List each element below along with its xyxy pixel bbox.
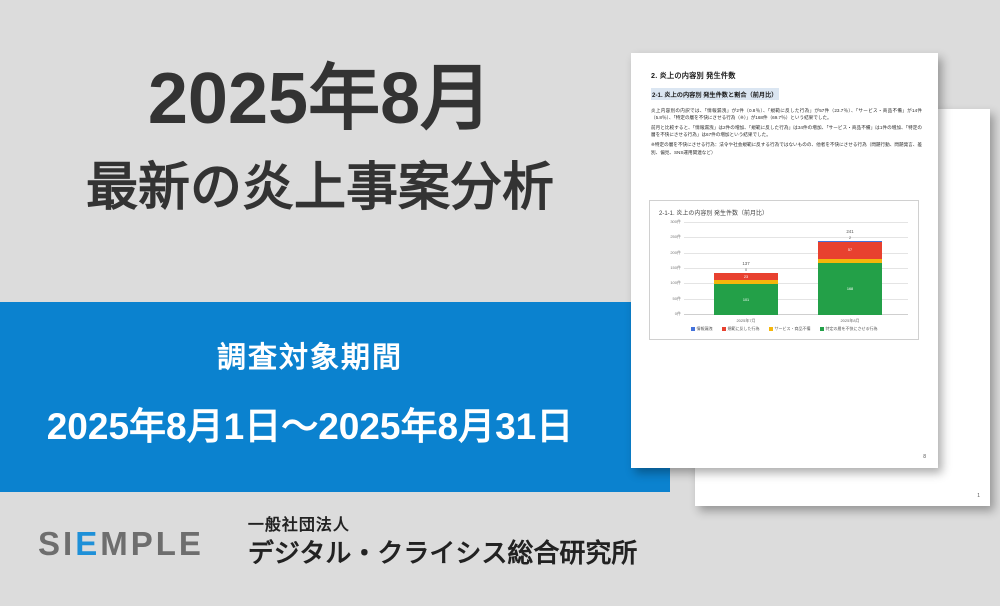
siemple-logo: SIEMPLE: [38, 527, 204, 560]
survey-period-band: 調査対象期間 2025年8月1日〜2025年8月31日: [0, 302, 670, 492]
chart-segment-value: 101: [743, 298, 749, 302]
chart-bar-segment: 101: [714, 284, 778, 315]
chart-y-tick: 100件: [670, 280, 681, 286]
page-title: 2025年8月: [0, 62, 640, 138]
chart-bar: 5716824122025年8月: [818, 241, 882, 315]
organization-block: 一般社団法人 デジタル・クライシス総合研究所: [248, 517, 637, 568]
chart-segment-value: 168: [847, 287, 853, 291]
chart-y-tick: 300件: [670, 219, 681, 225]
chart-legend-label: 情報漏洩: [697, 326, 713, 332]
chart-x-tick: 2025年8月: [818, 315, 882, 324]
chart-legend-swatch: [769, 327, 773, 331]
chart-y-tick: 0件: [675, 311, 681, 317]
chart-legend-item: サービス・商品不備: [769, 326, 811, 332]
logo-prefix: SI: [38, 525, 75, 562]
cover-slide: 2025年8月 最新の炎上事案分析 調査対象期間 2025年8月1日〜2025年…: [0, 0, 1000, 606]
survey-period-content: 調査対象期間 2025年8月1日〜2025年8月31日: [0, 302, 620, 450]
organization-name: デジタル・クライシス総合研究所: [248, 539, 637, 568]
page-number-front: 8: [923, 454, 926, 460]
chart-legend-label: サービス・商品不備: [775, 326, 811, 332]
chart-y-tick: 200件: [670, 250, 681, 256]
chart-segment-value: 23: [744, 275, 748, 279]
chart-title: 2-1-1. 炎上の内容別 発生件数（前月比）: [659, 208, 768, 217]
chart-bar-top-value: 2: [818, 236, 882, 241]
embedded-bar-chart: 2-1-1. 炎上の内容別 発生件数（前月比） 0件50件100件150件200…: [649, 200, 919, 340]
document-paragraph-2: 前月と比較すると、「情報漏洩」は2件の増加、「規範に反した行為」は34件の増加、…: [651, 124, 922, 139]
chart-legend-label: 特定の層を不快にさせる行為: [826, 326, 878, 332]
chart-legend-swatch: [820, 327, 824, 331]
survey-period-label: 調査対象期間: [0, 334, 620, 376]
document-text-body: 2. 炎上の内容別 発生件数 2-1. 炎上の内容別 発生件数と割合（前月比） …: [651, 71, 922, 156]
chart-y-tick: 150件: [670, 265, 681, 271]
chart-legend-swatch: [722, 327, 726, 331]
page-subtitle: 最新の炎上事案分析: [0, 160, 640, 217]
chart-legend-swatch: [691, 327, 695, 331]
cover-title-block: 2025年8月 最新の炎上事案分析: [0, 62, 640, 217]
chart-segment-value: 57: [848, 248, 852, 252]
document-heading-2: 2-1. 炎上の内容別 発生件数と割合（前月比）: [651, 88, 779, 100]
chart-legend-label: 規範に反した行為: [728, 326, 760, 332]
document-heading-1: 2. 炎上の内容別 発生件数: [651, 71, 922, 81]
document-paragraph-1: 炎上内容別の内訳では、「情報漏洩」が2件（0.8％）、「規範に反した行為」が57…: [651, 107, 922, 122]
document-page-front: 2. 炎上の内容別 発生件数 2-1. 炎上の内容別 発生件数と割合（前月比） …: [631, 53, 938, 468]
organization-kind: 一般社団法人: [248, 517, 637, 535]
chart-y-tick: 50件: [673, 296, 681, 302]
chart-legend: 情報漏洩規範に反した行為サービス・商品不備特定の層を不快にさせる行為: [650, 326, 918, 332]
logo-suffix: MPLE: [100, 525, 204, 562]
chart-bar-segment: 57: [818, 242, 882, 259]
chart-y-tick: 250件: [670, 234, 681, 240]
chart-bar-top-value: 0: [714, 268, 778, 273]
chart-bar: 2310113702025年7月: [714, 273, 778, 315]
chart-x-tick: 2025年7月: [714, 315, 778, 324]
chart-gridline: 300件: [684, 222, 908, 223]
survey-period-value: 2025年8月1日〜2025年8月31日: [0, 396, 620, 450]
chart-bar-segment: 168: [818, 263, 882, 315]
chart-legend-item: 特定の層を不快にさせる行為: [820, 326, 878, 332]
brand-footer: SIEMPLE 一般社団法人 デジタル・クライシス総合研究所: [0, 508, 640, 578]
logo-accent-letter: E: [75, 525, 100, 562]
chart-legend-item: 規範に反した行為: [722, 326, 760, 332]
document-paragraph-3: ※特定の層を不快にさせる行為：法令や社会規範に反する行為ではないものの、他者を不…: [651, 141, 922, 156]
page-number-back: 1: [977, 493, 980, 499]
chart-plot-area: 0件50件100件150件200件250件300件2310113702025年7…: [684, 223, 908, 315]
chart-bar-segment: 23: [714, 273, 778, 280]
chart-legend-item: 情報漏洩: [691, 326, 713, 332]
